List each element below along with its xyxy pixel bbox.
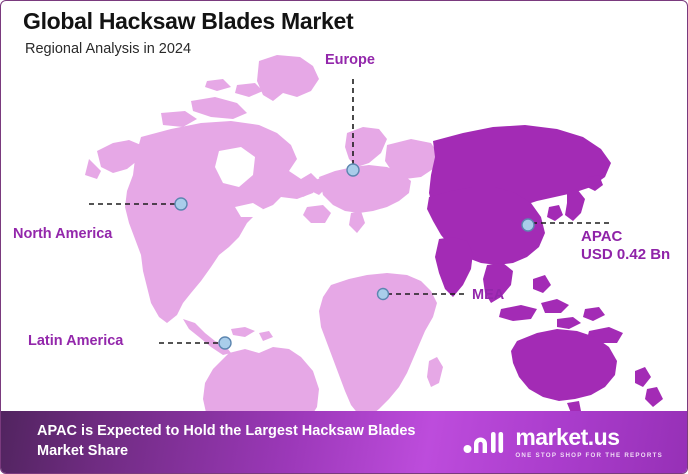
callout-latin-america: Latin America: [28, 333, 123, 350]
callout-value-apac: USD 0.42 Bn: [581, 246, 670, 264]
brand-name: market.us: [515, 426, 663, 449]
callout-mea: MEA: [472, 287, 504, 304]
map-base-regions: [85, 55, 443, 416]
page-title: Global Hacksaw Blades Market: [23, 9, 353, 34]
brand-text: market.us ONE STOP SHOP FOR THE REPORTS: [515, 426, 663, 459]
page-subtitle: Regional Analysis in 2024: [25, 41, 353, 57]
infographic-card: Global Hacksaw Blades Market Regional An…: [0, 0, 688, 474]
callout-label-latin-america: Latin America: [28, 333, 123, 349]
market-us-logo-icon: [463, 427, 507, 457]
header: Global Hacksaw Blades Market Regional An…: [23, 9, 353, 57]
bottom-banner: APAC is Expected to Hold the Largest Hac…: [1, 411, 688, 473]
map-highlight-regions: [427, 125, 663, 413]
brand-tagline: ONE STOP SHOP FOR THE REPORTS: [515, 452, 663, 459]
callout-apac: APAC USD 0.42 Bn: [581, 228, 670, 263]
callout-north-america: North America: [13, 226, 112, 243]
brand-logo: market.us ONE STOP SHOP FOR THE REPORTS: [463, 426, 663, 459]
callout-label-apac: APAC: [581, 228, 670, 246]
callout-label-north-america: North America: [13, 226, 112, 242]
banner-headline: APAC is Expected to Hold the Largest Hac…: [37, 422, 457, 461]
callout-label-mea: MEA: [472, 287, 504, 303]
